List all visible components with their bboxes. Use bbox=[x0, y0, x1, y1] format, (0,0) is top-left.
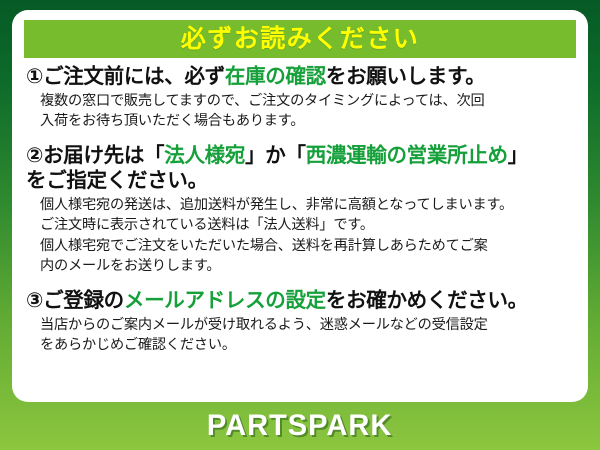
notice-item-1-heading-part-3: をお願いします。 bbox=[326, 65, 486, 88]
notice-card: 必ずお読みください ①ご注文前には、必ず在庫の確認をお願いします。 複数の窓口で… bbox=[12, 10, 588, 402]
notice-item-1-number: ① bbox=[26, 65, 43, 88]
notice-item-2-body: 個人様宅宛の発送は、追加送料が発生し、非常に高額となってしまいます。 ご注文時に… bbox=[40, 195, 574, 276]
notice-item-3-heading-part-3: をお確かめください。 bbox=[326, 289, 528, 312]
notice-item-2-heading-part-6: をご指定ください。 bbox=[26, 169, 208, 192]
notice-item-1-heading-part-1: ご注文前には、必ず bbox=[43, 65, 225, 88]
notice-item-2-heading-part-5: 」 bbox=[508, 144, 528, 167]
notice-item-1-heading: ①ご注文前には、必ず在庫の確認をお願いします。 bbox=[26, 64, 574, 89]
notice-item-2-number: ② bbox=[26, 144, 43, 167]
notice-item-3-body: 当店からのご案内メールが受け取れるよう、迷惑メールなどの受信設定 をあらかじめご… bbox=[40, 315, 574, 355]
notice-item-2-heading: ②お届け先は「法人様宛」か「西濃運輸の営業所止め」をご指定ください。 bbox=[26, 143, 574, 193]
footer-bar: PARTSPARK bbox=[0, 402, 600, 450]
notice-item-3-heading: ③ご登録のメールアドレスの設定をお確かめください。 bbox=[26, 288, 574, 313]
notice-item-2-heading-highlight-2: 西濃運輸の営業所止め bbox=[306, 144, 508, 167]
notice-title-strip: 必ずお読みください bbox=[24, 20, 576, 58]
notice-item-3-heading-highlight: メールアドレスの設定 bbox=[124, 289, 326, 312]
notice-item-2-heading-part-1: お届け先は「 bbox=[43, 144, 164, 167]
notice-item-3: ③ご登録のメールアドレスの設定をお確かめください。 当店からのご案内メールが受け… bbox=[24, 288, 576, 355]
notice-item-2-heading-part-3: 」か「 bbox=[245, 144, 306, 167]
notice-item-1-heading-highlight: 在庫の確認 bbox=[225, 65, 326, 88]
page-title: 必ずお読みください bbox=[181, 27, 420, 52]
notice-item-1-body: 複数の窓口で販売してますので、ご注文のタイミングによっては、次回 入荷をお待ち頂… bbox=[40, 91, 574, 131]
notice-item-3-heading-part-1: ご登録の bbox=[43, 289, 124, 312]
notice-banner: 必ずお読みください ①ご注文前には、必ず在庫の確認をお願いします。 複数の窓口で… bbox=[0, 0, 600, 450]
notice-item-3-number: ③ bbox=[26, 289, 43, 312]
notice-item-1: ①ご注文前には、必ず在庫の確認をお願いします。 複数の窓口で販売してますので、ご… bbox=[24, 64, 576, 131]
notice-item-2-heading-highlight-1: 法人様宛 bbox=[164, 144, 245, 167]
brand-logo: PARTSPARK bbox=[207, 411, 392, 441]
notice-item-2: ②お届け先は「法人様宛」か「西濃運輸の営業所止め」をご指定ください。 個人様宅宛… bbox=[24, 143, 576, 276]
